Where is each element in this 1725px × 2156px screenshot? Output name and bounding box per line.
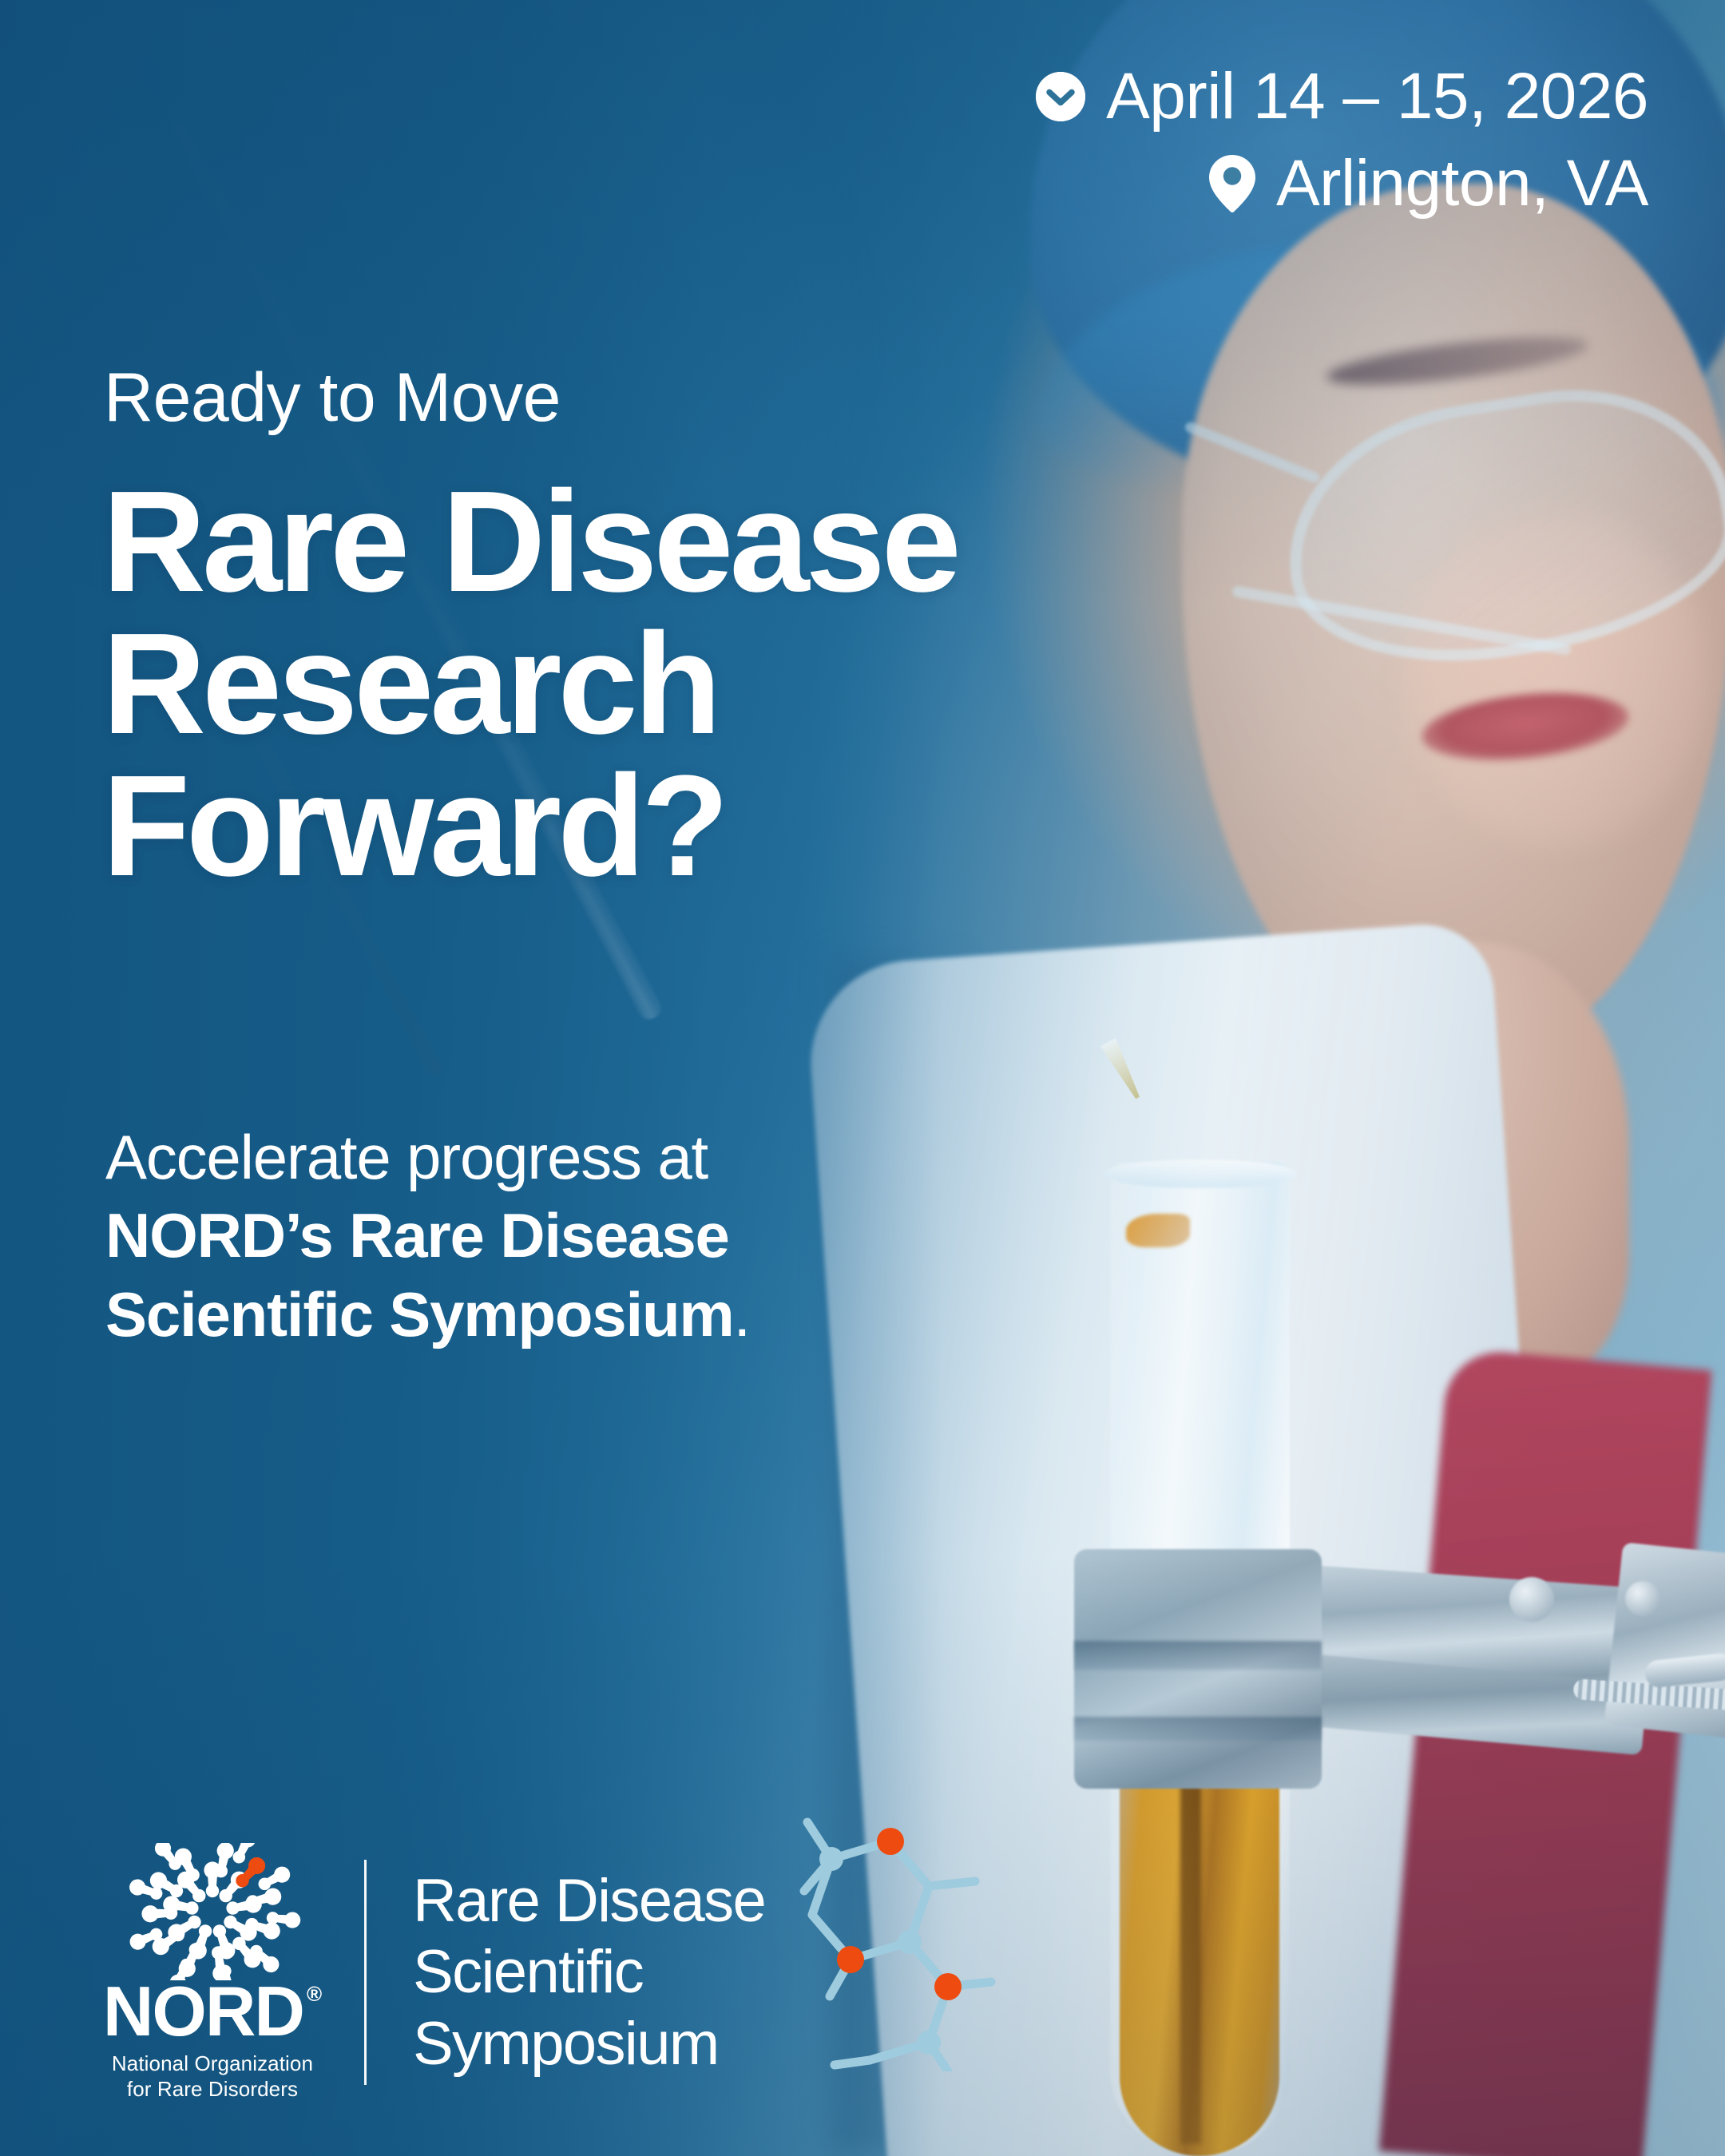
hero-subtitle-line-1: Accelerate progress at bbox=[105, 1118, 750, 1196]
event-date-text: April 14 – 15, 2026 bbox=[1106, 62, 1648, 130]
hero-headline-line-1: Rare Disease bbox=[102, 471, 958, 613]
hero-headline-line-2: Research bbox=[102, 613, 958, 755]
nord-tagline: National Organization for Rare Disorders bbox=[112, 2051, 313, 2102]
symposium-wordmark: Rare Disease Scientific Symposium bbox=[413, 1865, 765, 2080]
nord-registered-mark: ® bbox=[307, 1985, 322, 2003]
hero-headline: Rare Disease Research Forward? bbox=[102, 471, 958, 898]
hero-subtitle-line-3: Scientific Symposium. bbox=[105, 1275, 750, 1353]
logo-divider bbox=[364, 1860, 367, 2085]
circle-chevron-down-icon bbox=[1036, 72, 1085, 121]
nord-starburst-icon bbox=[113, 1843, 312, 1980]
hero-subtitle: Accelerate progress at NORD’s Rare Disea… bbox=[105, 1118, 750, 1353]
symposium-logo: Rare Disease Scientific Symposium bbox=[413, 1865, 765, 2080]
nord-wordmark-text: NORD bbox=[103, 1980, 303, 2042]
event-location-text: Arlington, VA bbox=[1276, 149, 1648, 217]
nord-logo: NORD ® National Organization for Rare Di… bbox=[105, 1843, 319, 2102]
hero-subtitle-period: . bbox=[734, 1279, 750, 1349]
symposium-wordmark-line-3: Symposium bbox=[413, 2008, 765, 2080]
poster-content: April 14 – 15, 2026 Arlington, VA Ready … bbox=[0, 0, 1725, 2156]
symposium-wordmark-line-2: Scientific bbox=[413, 1936, 765, 2008]
nord-wordmark: NORD ® bbox=[103, 1980, 322, 2042]
hero-eyebrow: Ready to Move bbox=[104, 363, 561, 432]
event-meta: April 14 – 15, 2026 Arlington, VA bbox=[1036, 62, 1648, 218]
hero-headline-line-3: Forward? bbox=[102, 755, 958, 898]
footer-logo-lockup: NORD ® National Organization for Rare Di… bbox=[105, 1843, 765, 2102]
nord-tagline-line-1: National Organization bbox=[112, 2051, 313, 2075]
map-pin-icon bbox=[1209, 155, 1255, 212]
hero-subtitle-line-3-bold: Scientific Symposium bbox=[105, 1279, 734, 1349]
hero-subtitle-line-2: NORD’s Rare Disease bbox=[105, 1196, 750, 1274]
event-date-row: April 14 – 15, 2026 bbox=[1036, 62, 1648, 130]
poster-root: April 14 – 15, 2026 Arlington, VA Ready … bbox=[0, 0, 1725, 2156]
symposium-wordmark-line-1: Rare Disease bbox=[413, 1865, 765, 1937]
nord-tagline-line-2: for Rare Disorders bbox=[127, 2077, 298, 2101]
event-location-row: Arlington, VA bbox=[1036, 149, 1648, 217]
